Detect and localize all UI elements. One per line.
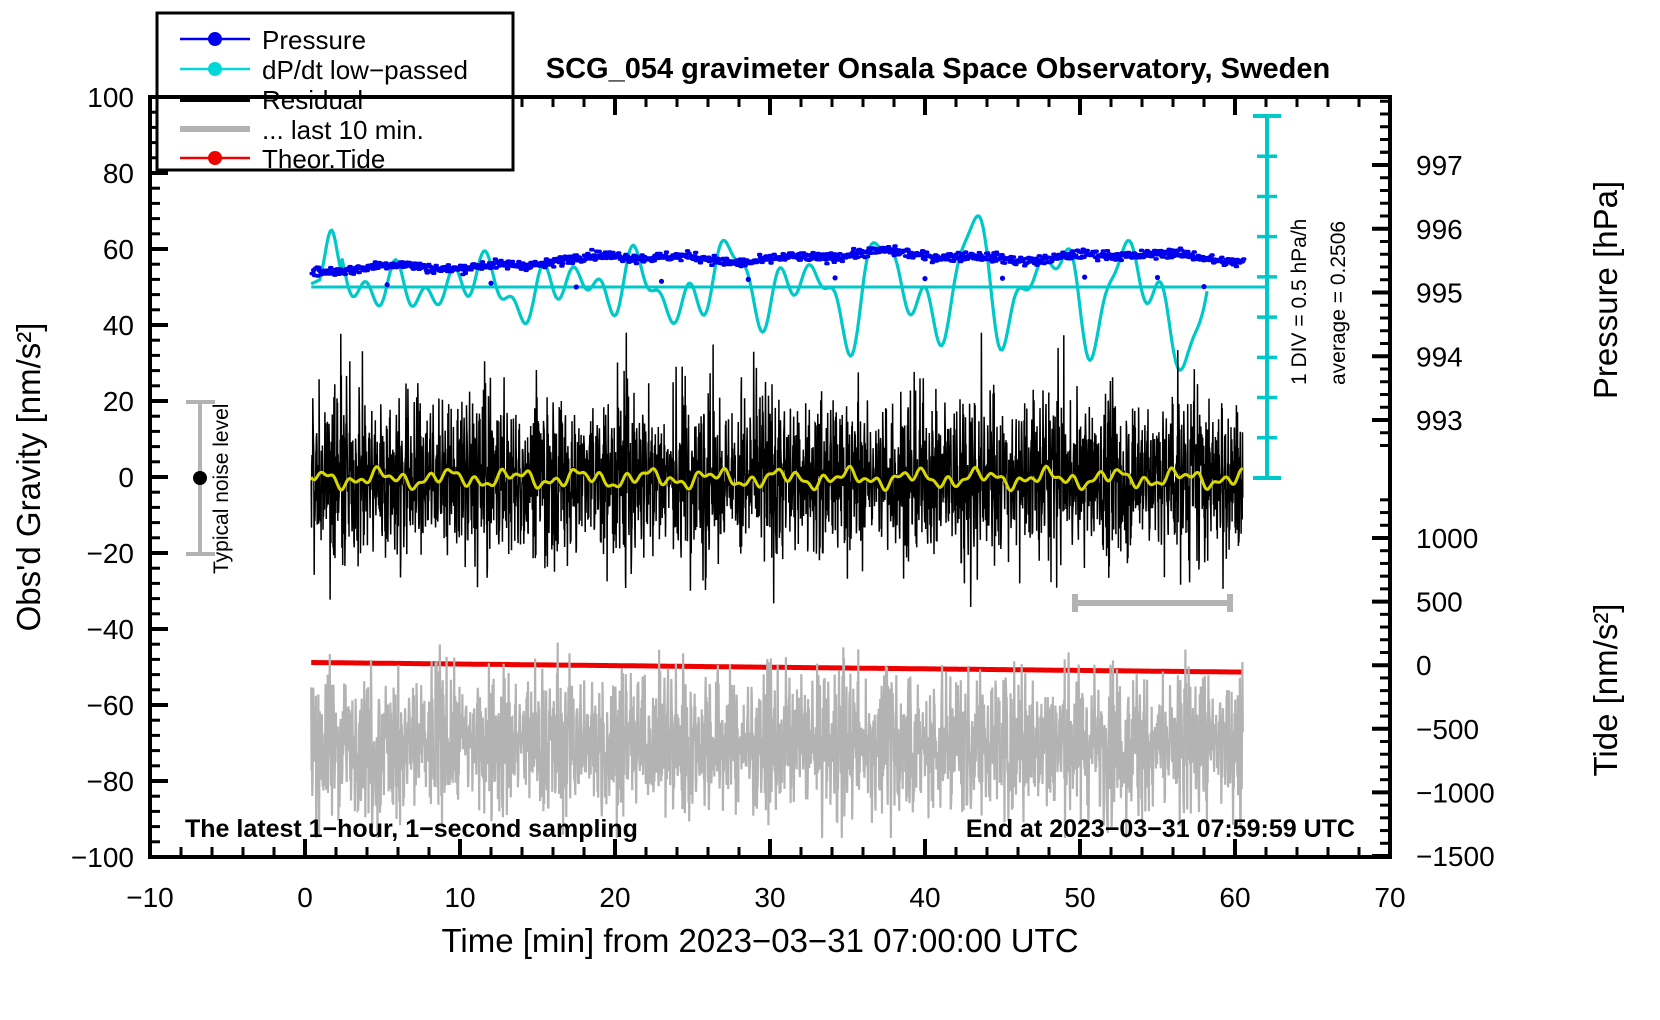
pressure-outlier-point (574, 284, 579, 289)
legend-label-theor-tide: Theor.Tide (262, 144, 385, 174)
y-tick-label: −100 (71, 842, 134, 873)
x-tick-label: 10 (444, 882, 475, 913)
x-tick-label: 20 (599, 882, 630, 913)
footer-left-text: The latest 1−hour, 1−second sampling (185, 815, 638, 843)
plot-figure: −10010203040506070−100−80−60−40−20020406… (0, 0, 1660, 1020)
scalebar-label-average: average = 0.2506 (1327, 221, 1350, 385)
pressure-tick-label: 994 (1416, 341, 1463, 372)
pressure-outlier-point (488, 281, 493, 286)
legend-marker-pressure (208, 32, 222, 46)
x-axis-title: Time [min] from 2023−03−31 07:00:00 UTC (441, 922, 1078, 959)
y-tick-label: −40 (87, 614, 135, 645)
pressure-outlier-point (1155, 275, 1160, 280)
y-tick-label: 20 (103, 386, 134, 417)
pressure-outlier-point (385, 282, 390, 287)
legend-label-dpdt: dP/dt low−passed (262, 55, 468, 85)
y-tick-label: 60 (103, 234, 134, 265)
x-tick-label: 30 (754, 882, 785, 913)
y-tick-label: −80 (87, 766, 135, 797)
tide-tick-label: 0 (1416, 650, 1432, 681)
pressure-outlier-point (1201, 284, 1206, 289)
tide-tick-label: 500 (1416, 587, 1463, 618)
pressure-outlier-point (922, 276, 927, 281)
legend-marker-dpdt (208, 62, 222, 76)
x-tick-label: 70 (1374, 882, 1405, 913)
legend-label-residual: Residual (262, 85, 363, 115)
y-axis-title-left: Obs'd Gravity [nm/s²] (10, 323, 47, 632)
x-tick-label: 0 (297, 882, 313, 913)
chart-title: SCG_054 gravimeter Onsala Space Observat… (546, 53, 1330, 85)
pressure-outlier-point (833, 275, 838, 280)
noise-bar-center-dot (193, 471, 207, 485)
pressure-outlier-point (1000, 276, 1005, 281)
legend-label-last10: ... last 10 min. (262, 115, 424, 145)
legend[interactable]: Pressure dP/dt low−passed Residual ... l… (157, 13, 513, 174)
pressure-tick-label: 997 (1416, 150, 1463, 181)
y-tick-label: 100 (87, 82, 134, 113)
chart-canvas: −10010203040506070−100−80−60−40−20020406… (0, 0, 1660, 1020)
y-tick-label: −60 (87, 690, 135, 721)
pressure-tick-label: 995 (1416, 278, 1463, 309)
pressure-outlier-point (659, 279, 664, 284)
pressure-tick-label: 996 (1416, 214, 1463, 245)
tide-tick-label: 1000 (1416, 523, 1478, 554)
footer-right-text: End at 2023−03−31 07:59:59 UTC (966, 815, 1355, 843)
x-tick-label: 50 (1064, 882, 1095, 913)
x-tick-label: 60 (1219, 882, 1250, 913)
x-tick-label: −10 (126, 882, 174, 913)
tide-tick-label: −1000 (1416, 777, 1495, 808)
y-tick-label: 80 (103, 158, 134, 189)
x-tick-label: 40 (909, 882, 940, 913)
y-axis-title-tide: Tide [nm/s²] (1587, 604, 1624, 777)
pressure-outlier-point (1082, 275, 1087, 280)
y-tick-label: 40 (103, 310, 134, 341)
y-tick-label: −20 (87, 538, 135, 569)
legend-marker-theor-tide (208, 151, 222, 165)
y-axis-title-pressure: Pressure [hPa] (1587, 181, 1624, 399)
pressure-outlier-point (746, 277, 751, 282)
tide-tick-label: −500 (1416, 714, 1479, 745)
pressure-tick-label: 993 (1416, 405, 1463, 436)
noise-level-label: Typical noise level (210, 404, 233, 574)
y-tick-label: 0 (118, 462, 134, 493)
scalebar-label-div: 1 DIV = 0.5 hPa/h (1288, 219, 1311, 385)
tide-tick-label: −1500 (1416, 841, 1495, 872)
legend-label-pressure: Pressure (262, 25, 366, 55)
